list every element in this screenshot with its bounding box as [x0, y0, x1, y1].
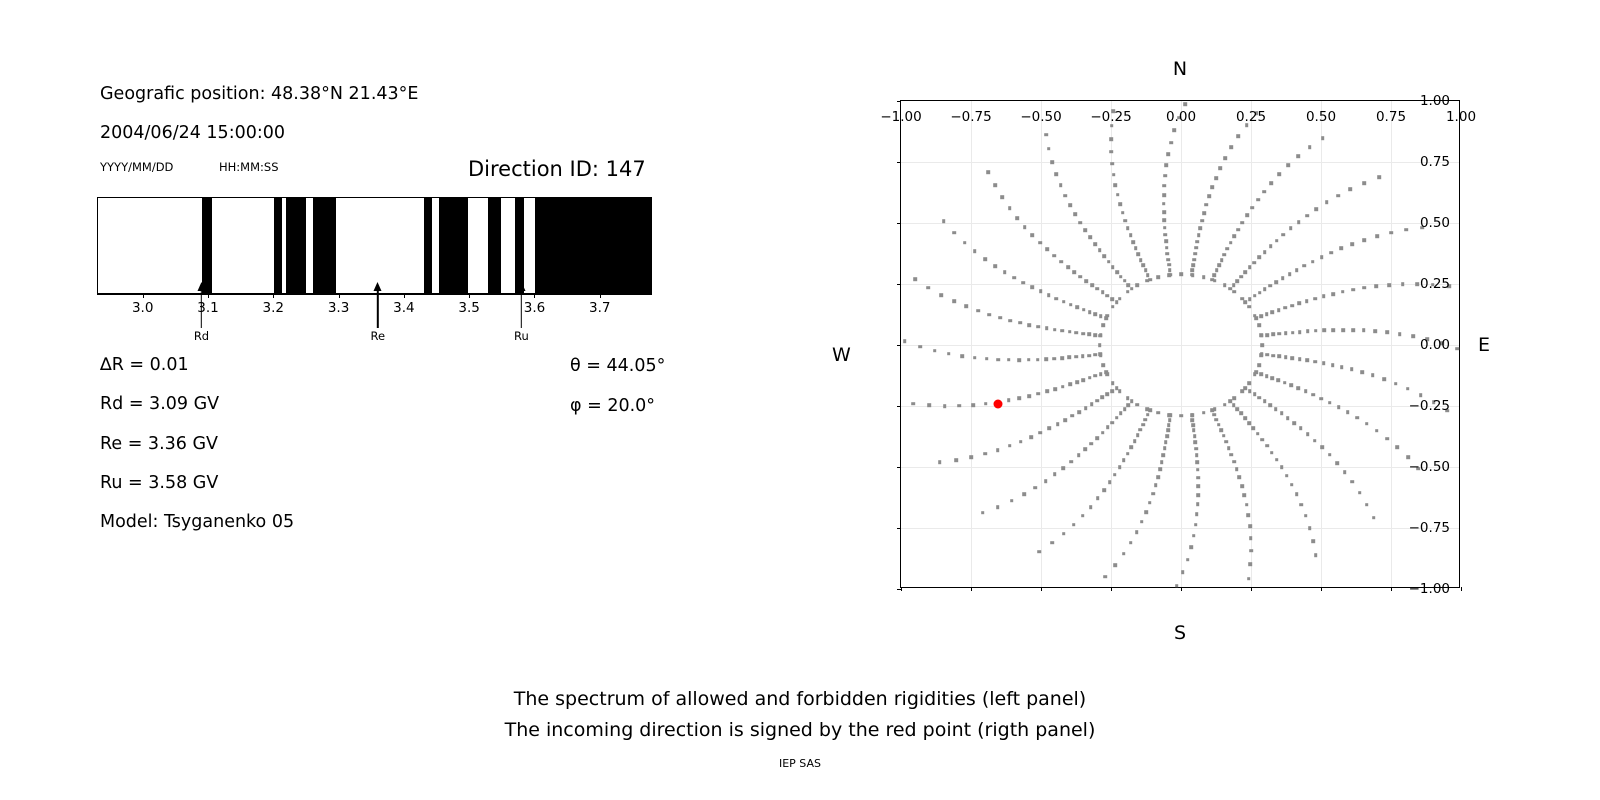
direction-dot: [1193, 252, 1197, 256]
direction-dot: [1305, 359, 1309, 363]
direction-dot: [1093, 333, 1097, 337]
direction-dot: [1111, 265, 1115, 269]
direction-dot: [1358, 491, 1362, 495]
direction-dot: [1093, 353, 1097, 357]
caption-line-2: The incoming direction is signed by the …: [0, 719, 1600, 741]
direction-dot: [1053, 473, 1057, 477]
direction-dot: [1238, 476, 1242, 480]
direction-dot: [1121, 211, 1125, 215]
direction-dot: [1271, 376, 1275, 380]
direction-dot: [1168, 268, 1172, 272]
direction-dot: [1166, 258, 1170, 262]
forbidden-band: [202, 198, 211, 293]
direction-dot: [1017, 358, 1021, 362]
direction-dot: [1298, 357, 1302, 361]
direction-dot: [1107, 260, 1111, 264]
direction-dot: [1113, 563, 1117, 567]
direction-dot: [1394, 382, 1398, 386]
direction-dot: [1134, 247, 1138, 251]
direction-dot: [1166, 429, 1170, 433]
direction-dot: [1226, 247, 1230, 251]
direction-dot: [987, 170, 991, 174]
direction-dot: [1088, 236, 1092, 240]
direction-dot: [1237, 134, 1241, 138]
direction-dot: [1119, 275, 1123, 279]
gridline-vertical: [1321, 101, 1322, 587]
direction-dot: [1196, 476, 1200, 480]
direction-dot: [1288, 272, 1292, 276]
direction-dot: [1215, 269, 1219, 273]
direction-dot: [1098, 343, 1102, 347]
direction-dot: [1241, 221, 1245, 225]
direction-dot: [1285, 474, 1289, 478]
x-axis-tick-label: −0.75: [950, 109, 991, 125]
direction-dot: [1265, 353, 1269, 357]
direction-dot: [1108, 481, 1112, 485]
direction-dot: [1044, 479, 1048, 483]
direction-dot: [1111, 305, 1115, 309]
direction-dot: [1048, 427, 1052, 431]
direction-dot: [1325, 201, 1329, 205]
direction-dot: [1214, 176, 1218, 180]
direction-dot: [1277, 379, 1281, 383]
direction-dot: [1284, 355, 1288, 359]
y-axis-tick-label: 0.50: [1420, 215, 1450, 231]
direction-dot: [1090, 403, 1094, 407]
direction-dot: [1123, 219, 1127, 223]
direction-dot: [1320, 446, 1324, 450]
direction-dot: [1053, 357, 1057, 361]
y-axis-tick-label: −0.75: [1409, 520, 1450, 536]
forbidden-band: [313, 198, 336, 293]
direction-dot: [983, 257, 987, 261]
direction-dot: [1244, 300, 1248, 304]
param-model: Model: Tsyganenko 05: [100, 512, 294, 532]
direction-dot: [1304, 514, 1308, 518]
direction-dot: [1220, 258, 1224, 262]
axis-tick-label: 3.4: [393, 300, 414, 316]
direction-dot: [1030, 286, 1034, 290]
direction-dot: [1094, 374, 1098, 378]
gridline-vertical: [1391, 101, 1392, 587]
direction-id-label: Direction ID: 147: [468, 157, 646, 181]
direction-dot: [1118, 390, 1122, 394]
direction-dot: [1192, 534, 1196, 538]
direction-dot: [1284, 331, 1288, 335]
direction-dot: [1101, 323, 1105, 327]
direction-dot: [1311, 260, 1315, 264]
direction-dot: [1322, 362, 1326, 366]
spectrum-bar: [97, 197, 652, 294]
direction-dot: [1411, 334, 1415, 338]
direction-dot: [1061, 329, 1065, 333]
direction-dot: [1130, 399, 1134, 403]
direction-dot: [969, 455, 973, 459]
direction-dot: [1045, 357, 1049, 361]
direction-dot: [1081, 514, 1085, 518]
direction-dot: [1129, 541, 1133, 545]
direction-dot: [1113, 473, 1117, 477]
direction-dot: [1167, 423, 1171, 427]
direction-dot: [1373, 329, 1377, 333]
direction-dot: [1261, 438, 1265, 442]
direction-dot: [1164, 233, 1168, 237]
direction-dot: [1265, 444, 1269, 448]
incoming-direction-panel: −1.00−1.00−0.75−0.75−0.50−0.50−0.25−0.25…: [800, 0, 1600, 800]
x-axis-tick: [1111, 587, 1112, 591]
direction-dot: [993, 264, 997, 268]
direction-dot: [1122, 459, 1126, 463]
direction-dot: [1230, 146, 1234, 150]
direction-dot: [1299, 427, 1303, 431]
time-format-hint: HH:MM:SS: [219, 160, 279, 174]
direction-dot: [1104, 575, 1108, 579]
direction-dot: [1087, 354, 1091, 358]
direction-dot: [1401, 282, 1405, 286]
direction-dot: [1047, 147, 1051, 151]
direction-dot: [1362, 238, 1366, 242]
direction-dot: [1106, 426, 1110, 430]
direction-dot: [1140, 520, 1144, 524]
direction-dot: [1256, 432, 1260, 436]
direction-dot: [1156, 475, 1160, 479]
direction-dot: [1328, 453, 1332, 457]
direction-dot: [1194, 523, 1198, 527]
direction-dot: [1245, 214, 1249, 218]
direction-dot: [1270, 451, 1274, 455]
direction-dot: [1239, 412, 1243, 416]
direction-dot: [1066, 265, 1070, 269]
direction-dot: [1223, 403, 1227, 407]
direction-dot: [1054, 172, 1058, 176]
direction-dot: [1258, 396, 1262, 400]
direction-dot: [1109, 137, 1113, 141]
direction-dot: [1236, 279, 1240, 283]
direction-dot: [1253, 261, 1257, 265]
direction-dot: [1249, 549, 1253, 553]
gridline-horizontal: [901, 162, 1459, 163]
x-axis-tick: [1181, 587, 1182, 591]
x-axis-tick-label: 0.25: [1236, 109, 1266, 125]
direction-dot: [1089, 505, 1093, 509]
direction-dot: [1158, 468, 1162, 472]
direction-dot: [1195, 512, 1199, 516]
direction-dot: [1122, 552, 1126, 556]
direction-dot: [1265, 312, 1269, 316]
direction-dot: [1396, 446, 1400, 450]
direction-dot: [1146, 413, 1150, 417]
direction-dot: [954, 458, 958, 462]
gridline-horizontal: [901, 223, 1459, 224]
compass-west-label: W: [832, 344, 851, 366]
direction-dot: [1263, 287, 1267, 291]
direction-dot: [1219, 428, 1223, 432]
direction-dot: [1295, 492, 1299, 496]
rigidity-spectrum-panel: Geografic position: 48.38°N 21.43°E 2004…: [0, 0, 800, 800]
direction-dot: [1289, 227, 1293, 231]
direction-dot: [1258, 291, 1262, 295]
direction-dot: [1207, 194, 1211, 198]
direction-dot: [1126, 403, 1130, 407]
direction-dot: [1135, 403, 1139, 407]
direction-dot: [1059, 260, 1063, 264]
direction-dot: [1202, 275, 1206, 279]
direction-dot: [1243, 493, 1247, 497]
direction-dot: [1063, 418, 1067, 422]
direction-dot: [1281, 276, 1285, 280]
direction-dot: [1191, 423, 1195, 427]
geographic-position-label: Geografic position: 48.38°N 21.43°E: [100, 84, 418, 104]
compass-east-label: E: [1478, 334, 1490, 356]
x-axis-tick: [971, 587, 972, 591]
x-axis-tick-label: 0.75: [1376, 109, 1406, 125]
direction-dot: [1270, 181, 1274, 185]
direction-dot: [1247, 513, 1251, 517]
direction-dot: [1163, 184, 1167, 188]
y-axis-tick: [897, 589, 901, 590]
direction-dot: [1095, 436, 1099, 440]
param-re: Re = 3.36 GV: [100, 434, 218, 454]
direction-dot: [1196, 493, 1200, 497]
direction-dot: [947, 352, 951, 356]
direction-dot: [1335, 461, 1339, 465]
direction-dot: [1232, 397, 1236, 401]
direction-dot: [1297, 302, 1301, 306]
direction-dot: [1084, 406, 1088, 410]
direction-dot: [984, 402, 988, 406]
direction-dot: [1233, 235, 1237, 239]
direction-dot: [1163, 226, 1167, 230]
direction-dot: [1337, 405, 1341, 409]
direction-dot: [973, 356, 977, 360]
direction-dot: [1053, 387, 1057, 391]
x-axis-tick: [1321, 587, 1322, 591]
direction-dot: [1145, 279, 1149, 283]
x-axis-tick-label: −0.50: [1020, 109, 1061, 125]
direction-dot: [1162, 202, 1166, 206]
direction-dot: [1375, 284, 1379, 288]
forbidden-band: [488, 198, 501, 293]
direction-dot: [1248, 525, 1252, 529]
direction-dot: [973, 250, 977, 254]
direction-dot: [1298, 330, 1302, 334]
direction-dot: [1406, 387, 1410, 391]
gridline-horizontal: [901, 406, 1459, 407]
direction-dot: [1145, 408, 1149, 412]
direction-dot: [1223, 253, 1227, 257]
direction-dot: [1274, 407, 1278, 411]
direction-dot: [1111, 381, 1115, 385]
direction-dot: [1290, 483, 1294, 487]
direction-dot: [1360, 370, 1364, 374]
y-axis-tick: [897, 223, 901, 224]
direction-dot: [998, 316, 1002, 320]
axis-tick: [404, 294, 405, 298]
direction-dot: [1371, 374, 1375, 378]
direction-dot: [1362, 329, 1366, 333]
direction-dot: [1193, 440, 1197, 444]
direction-dot: [1375, 234, 1379, 238]
direction-dot: [1287, 164, 1291, 168]
direction-dot: [1306, 432, 1310, 436]
direction-dot: [938, 461, 942, 465]
axis-tick: [534, 294, 535, 298]
direction-dot: [1162, 193, 1166, 197]
direction-dot: [981, 511, 985, 515]
direction-dot: [1313, 439, 1317, 443]
y-axis-tick-label: 0.00: [1420, 337, 1450, 353]
direction-dot: [927, 286, 931, 290]
direction-dot: [903, 340, 907, 344]
direction-dot: [963, 241, 967, 245]
direction-dot: [1311, 539, 1315, 543]
direction-dot: [983, 452, 987, 456]
direction-dot: [1314, 554, 1318, 558]
direction-dot: [1033, 486, 1037, 490]
direction-dot: [1115, 270, 1119, 274]
direction-dot: [1351, 480, 1355, 484]
direction-dot: [1088, 376, 1092, 380]
direction-dot: [1069, 303, 1073, 307]
direction-dot: [1313, 360, 1317, 364]
gridline-horizontal: [901, 467, 1459, 468]
direction-dot: [1090, 442, 1094, 446]
arrow-shaft: [377, 288, 378, 328]
direction-dot: [1218, 166, 1222, 170]
direction-dot: [1375, 429, 1379, 433]
direction-dot: [1036, 358, 1040, 362]
direction-dot: [1248, 297, 1252, 301]
y-axis-tick: [897, 101, 901, 102]
x-axis-tick-label: 1.00: [1446, 109, 1476, 125]
direction-dot: [1101, 363, 1105, 367]
direction-dot: [1196, 484, 1200, 488]
y-axis-tick-label: 0.25: [1420, 276, 1450, 292]
gridline-horizontal: [901, 528, 1459, 529]
direction-dot: [1277, 355, 1281, 359]
param-theta: θ = 44.05°: [570, 356, 665, 376]
direction-dot: [1253, 392, 1257, 396]
direction-dot: [1398, 332, 1402, 336]
direction-dot: [1053, 328, 1057, 332]
y-axis-tick: [897, 467, 901, 468]
direction-dot: [1456, 347, 1460, 351]
direction-dot: [1260, 333, 1264, 337]
direction-dot: [1275, 239, 1279, 243]
direction-dot: [1224, 440, 1228, 444]
forbidden-band: [424, 198, 431, 293]
marker-label: Re: [370, 329, 385, 343]
direction-dot: [1315, 207, 1319, 211]
direction-dot: [1165, 434, 1169, 438]
direction-dot: [1168, 273, 1172, 277]
gridline-vertical: [1251, 101, 1252, 587]
rigidity-marker-ru: Ru: [521, 282, 522, 328]
date-format-hint: YYYY/MM/DD: [100, 160, 173, 174]
caption-line-1: The spectrum of allowed and forbidden ri…: [0, 688, 1600, 710]
direction-dot: [1191, 268, 1195, 272]
direction-dot: [942, 220, 946, 224]
direction-dot: [1260, 353, 1264, 357]
direction-dot: [1331, 292, 1335, 296]
direction-dot: [1133, 439, 1137, 443]
direction-dot: [1253, 373, 1257, 377]
y-axis-tick: [897, 345, 901, 346]
direction-dot: [1022, 492, 1026, 496]
direction-dot: [1291, 356, 1295, 360]
direction-dot: [1115, 416, 1119, 420]
incoming-direction-point: [993, 400, 1002, 409]
footer-label: IEP SAS: [0, 757, 1600, 770]
direction-dot: [1191, 413, 1195, 417]
x-axis-tick: [1391, 587, 1392, 591]
direction-dot: [1321, 136, 1325, 140]
direction-dot: [1340, 365, 1344, 369]
direction-dot: [1247, 577, 1251, 581]
direction-dot: [1088, 310, 1092, 314]
direction-dot: [1244, 270, 1248, 274]
direction-dot: [1252, 426, 1256, 430]
direction-dot: [1037, 325, 1041, 329]
direction-dot: [996, 448, 1000, 452]
direction-dot: [1249, 562, 1253, 566]
direction-dot: [1169, 141, 1173, 145]
forbidden-band: [535, 198, 652, 293]
direction-dot: [1106, 392, 1110, 396]
direction-dot: [1018, 321, 1022, 325]
direction-dot: [1232, 460, 1236, 464]
direction-dot: [1200, 219, 1204, 223]
direction-dot: [1105, 373, 1109, 377]
direction-dot: [1341, 328, 1345, 332]
axis-line: [97, 294, 652, 295]
direction-dot: [1160, 460, 1164, 464]
axis-tick-label: 3.5: [458, 300, 479, 316]
direction-dot: [1322, 295, 1326, 299]
direction-dot: [1280, 466, 1284, 470]
direction-dot: [1061, 385, 1065, 389]
direction-dot: [1256, 198, 1260, 202]
gridline-vertical: [1181, 101, 1182, 587]
direction-dot: [1387, 283, 1391, 287]
direction-dot: [1297, 220, 1301, 224]
direction-dot: [1193, 434, 1197, 438]
direction-dot: [1251, 206, 1255, 210]
y-axis-tick-label: −0.25: [1409, 398, 1450, 414]
y-axis-tick-label: 1.00: [1420, 93, 1450, 109]
direction-dot: [1263, 399, 1267, 403]
direction-dot: [1183, 102, 1187, 106]
direction-dot: [943, 404, 947, 408]
direction-dot: [1217, 264, 1221, 268]
x-axis-tick: [901, 587, 902, 591]
axis-tick: [273, 294, 274, 298]
y-axis-tick-label: −1.00: [1409, 581, 1450, 597]
direction-dot: [1236, 407, 1240, 411]
direction-dot: [971, 403, 975, 407]
param-delta-r: ∆R = 0.01: [100, 355, 189, 375]
direction-dot: [1116, 193, 1120, 197]
compass-south-label: S: [1174, 622, 1186, 644]
direction-dot: [1313, 297, 1317, 301]
direction-dot: [1099, 372, 1103, 376]
direction-dot: [1162, 210, 1166, 214]
direction-dot: [1083, 448, 1087, 452]
direction-dot: [1308, 145, 1312, 149]
direction-dot: [1015, 216, 1019, 220]
direction-dot: [1099, 314, 1103, 318]
direction-dot: [1286, 416, 1290, 420]
